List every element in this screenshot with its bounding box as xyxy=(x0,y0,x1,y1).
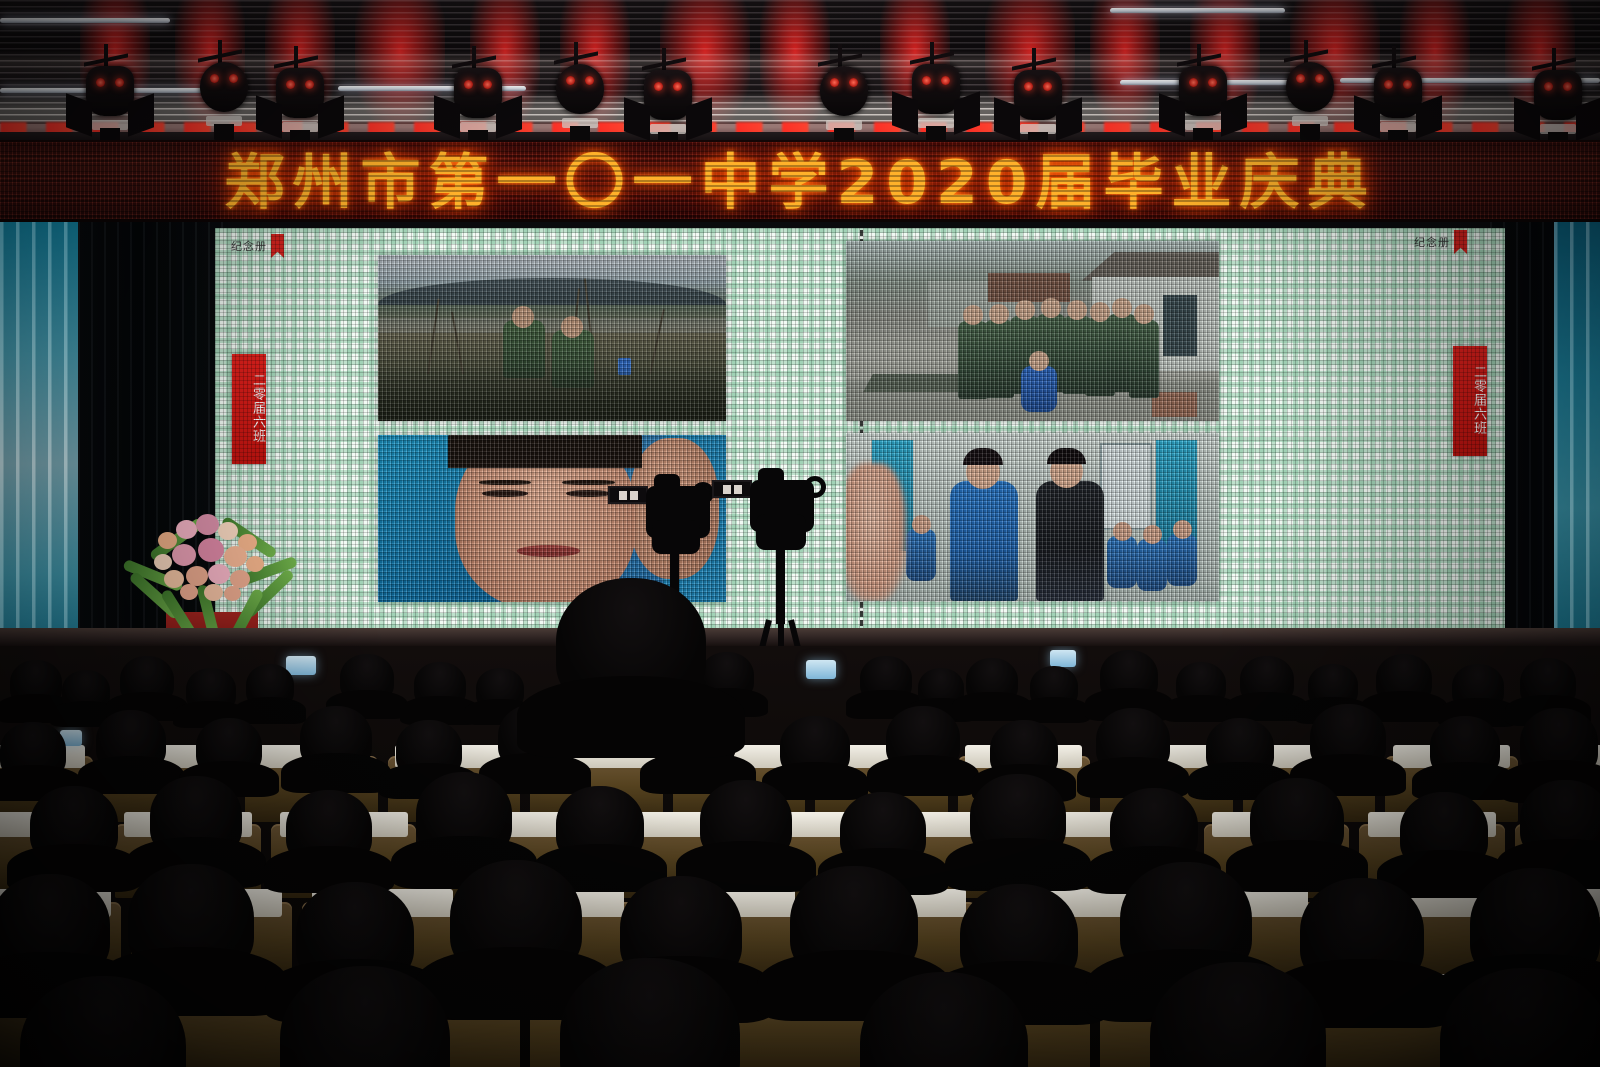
audience-head xyxy=(62,670,110,712)
album-tag-right-label: 纪念册 xyxy=(1414,234,1450,250)
audience-head xyxy=(128,864,254,976)
class-ribbon-right: 二零届六班 xyxy=(1453,346,1487,456)
audience-head xyxy=(186,668,236,712)
audience-head xyxy=(30,786,118,864)
screen-photo-top-right xyxy=(846,241,1219,421)
bookmark-icon xyxy=(1454,230,1467,254)
screen-photo-bottom-right xyxy=(846,433,1219,601)
stage-light-fixture xyxy=(72,62,148,148)
stage-light-fixture xyxy=(1165,62,1241,148)
audience-head xyxy=(340,654,394,702)
audience-head xyxy=(1300,878,1424,988)
audience-head xyxy=(1176,662,1226,706)
ceiling-light-tube xyxy=(1110,8,1285,13)
flower-blooms xyxy=(150,510,274,602)
audience-head xyxy=(1430,716,1500,778)
audience-head xyxy=(960,884,1078,988)
audience-head xyxy=(1310,704,1386,772)
audience-head xyxy=(286,790,372,866)
bookmark-icon xyxy=(271,234,284,258)
audience-head xyxy=(96,710,166,772)
audience-head xyxy=(1308,664,1358,708)
audience-head xyxy=(0,874,110,980)
audience-head xyxy=(1400,792,1488,870)
stage-light-fixture xyxy=(542,60,618,146)
audience-head xyxy=(0,722,66,780)
class-ribbon-left: 二零届六班 xyxy=(232,354,266,464)
audience-head xyxy=(120,656,174,704)
camera-monitor-left xyxy=(608,486,648,504)
audience-head xyxy=(860,656,912,702)
audience-head xyxy=(450,860,582,978)
audience-head xyxy=(1240,656,1294,704)
audience-head xyxy=(414,662,466,708)
audience-head xyxy=(1206,718,1274,778)
audience-head xyxy=(886,706,960,772)
auditorium-scene: 郑州市第一〇一中学2020届毕业庆典 xyxy=(0,0,1600,1067)
audience-head xyxy=(790,866,918,980)
audience-head xyxy=(990,720,1058,780)
led-banner-text: 郑州市第一〇一中学2020届毕业庆典 xyxy=(0,146,1600,220)
audience-head xyxy=(416,772,512,858)
cyan-curtain-right xyxy=(1554,222,1600,662)
audience-head xyxy=(396,720,462,778)
camera-operator-silhouette xyxy=(556,578,706,710)
audience-head xyxy=(1376,654,1432,704)
audience-area xyxy=(0,646,1600,1067)
camera-monitor-right xyxy=(712,480,752,498)
audience-head xyxy=(1030,666,1078,708)
audience-head xyxy=(1250,778,1344,862)
led-projection-screen: 二零届六班 二零届六班 纪念册 纪念册 xyxy=(215,228,1505,628)
album-tag-left: 纪念册 xyxy=(231,234,284,258)
stage-light-fixture xyxy=(186,58,262,144)
audience-head xyxy=(246,664,294,708)
audience-head xyxy=(150,776,242,858)
audience-head xyxy=(556,786,644,864)
audience-head xyxy=(1100,650,1158,702)
ceiling-light-tube xyxy=(0,18,170,23)
album-tag-right: 纪念册 xyxy=(1414,230,1467,254)
audience-head xyxy=(476,668,524,710)
audience-head xyxy=(1470,868,1600,984)
cyan-curtain-left xyxy=(0,222,78,662)
audience-head xyxy=(1096,708,1170,774)
audience-phone-screen xyxy=(1050,650,1076,667)
led-banner: 郑州市第一〇一中学2020届毕业庆典 xyxy=(0,140,1600,222)
stage-light-fixture xyxy=(806,62,882,148)
audience-phone-screen xyxy=(286,656,316,675)
audience-head xyxy=(1520,780,1600,860)
audience-head xyxy=(300,706,372,770)
stage-light-fixture xyxy=(898,60,974,146)
screen-photo-top-left xyxy=(378,255,726,421)
audience-head xyxy=(1452,664,1504,710)
stage-light-fixture xyxy=(440,64,516,150)
audience-phone-screen xyxy=(806,660,836,679)
stage-light-fixture xyxy=(1360,64,1436,150)
audience-head xyxy=(1520,708,1598,778)
audience-head xyxy=(970,774,1066,860)
audience-head xyxy=(1110,788,1198,866)
album-tag-left-label: 纪念册 xyxy=(231,238,267,254)
audience-head xyxy=(196,718,262,776)
audience-head xyxy=(780,716,850,778)
audience-head xyxy=(1520,658,1576,708)
stage-light-fixture xyxy=(1272,58,1348,144)
audience-head xyxy=(840,792,926,868)
audience-head xyxy=(700,780,792,862)
audience-head xyxy=(10,660,62,706)
stage-light-fixture xyxy=(262,64,338,150)
audience-head xyxy=(966,658,1018,704)
